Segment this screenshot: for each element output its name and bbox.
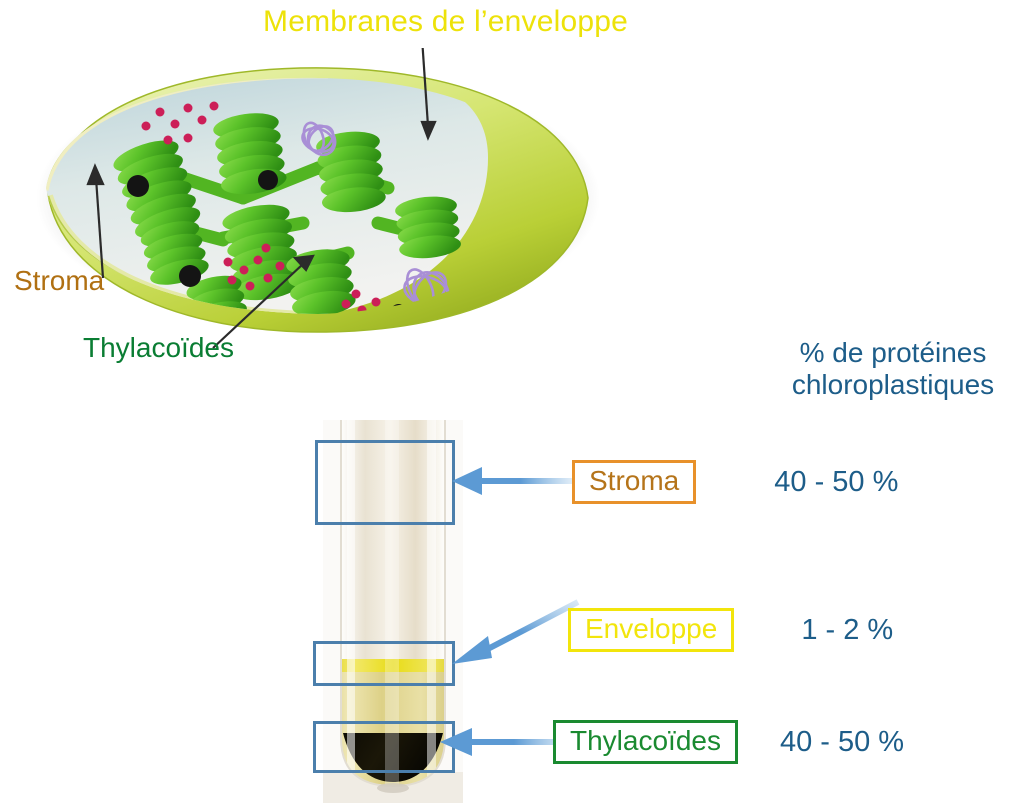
legend-row-envelope: Enveloppe 1 - 2 % <box>568 606 893 654</box>
region-box-stroma[interactable] <box>315 440 455 525</box>
region-box-envelope[interactable] <box>313 641 455 686</box>
page-title: Membranes de l’enveloppe <box>263 5 628 39</box>
arrow-to-stroma-band <box>452 462 572 502</box>
percent-header-line1: % de protéines <box>751 337 1035 369</box>
legend-chip-thylakoids[interactable]: Thylacoïdes <box>553 720 738 764</box>
legend-chip-stroma[interactable]: Stroma <box>572 460 696 504</box>
arrow-to-thylakoid-pellet <box>440 723 570 763</box>
percent-header: % de protéines chloroplastiques <box>751 337 1035 401</box>
diagram-label-stroma: Stroma <box>14 265 104 297</box>
legend-value-thylakoids: 40 - 50 % <box>780 726 904 759</box>
arrow-to-envelope-band <box>450 600 580 670</box>
legend-row-thylakoids: Thylacoïdes 40 - 50 % <box>553 718 904 766</box>
region-box-thylakoid[interactable] <box>313 721 455 773</box>
legend-chip-envelope[interactable]: Enveloppe <box>568 608 734 652</box>
diagram-label-thylakoids: Thylacoïdes <box>83 332 234 364</box>
legend-value-envelope: 1 - 2 % <box>801 614 893 647</box>
legend-value-stroma: 40 - 50 % <box>774 466 898 499</box>
chloroplast-illustration <box>18 48 618 378</box>
legend-row-stroma: Stroma 40 - 50 % <box>572 458 898 506</box>
tube-base-shadow <box>377 783 409 793</box>
percent-header-line2: chloroplastiques <box>751 369 1035 401</box>
